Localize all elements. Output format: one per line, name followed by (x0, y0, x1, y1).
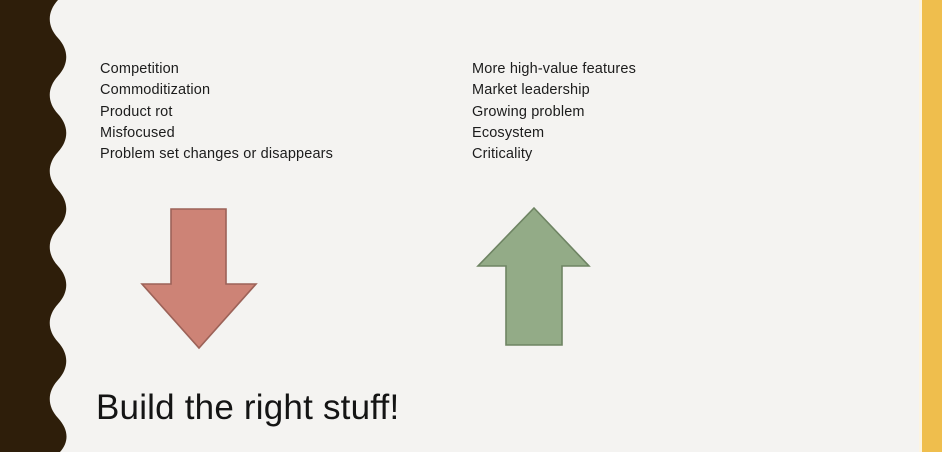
list-item: Criticality (472, 144, 636, 165)
presentation-slide: Competition Commoditization Product rot … (0, 0, 942, 452)
gold-accent-band (922, 0, 942, 452)
list-item: Product rot (100, 102, 333, 123)
positive-outcomes-list: More high-value features Market leadersh… (472, 59, 636, 165)
list-item: Problem set changes or disappears (100, 144, 333, 165)
page-title: Build the right stuff! (96, 386, 399, 430)
scalloped-wave-border (0, 0, 90, 452)
list-item: Competition (100, 59, 333, 80)
list-item: Ecosystem (472, 123, 636, 144)
list-item: More high-value features (472, 59, 636, 80)
arrow-down-icon (142, 209, 256, 348)
arrow-up-icon (478, 208, 589, 345)
negative-outcomes-list: Competition Commoditization Product rot … (100, 59, 333, 165)
list-item: Misfocused (100, 123, 333, 144)
list-item: Growing problem (472, 102, 636, 123)
list-item: Commoditization (100, 80, 333, 101)
list-item: Market leadership (472, 80, 636, 101)
